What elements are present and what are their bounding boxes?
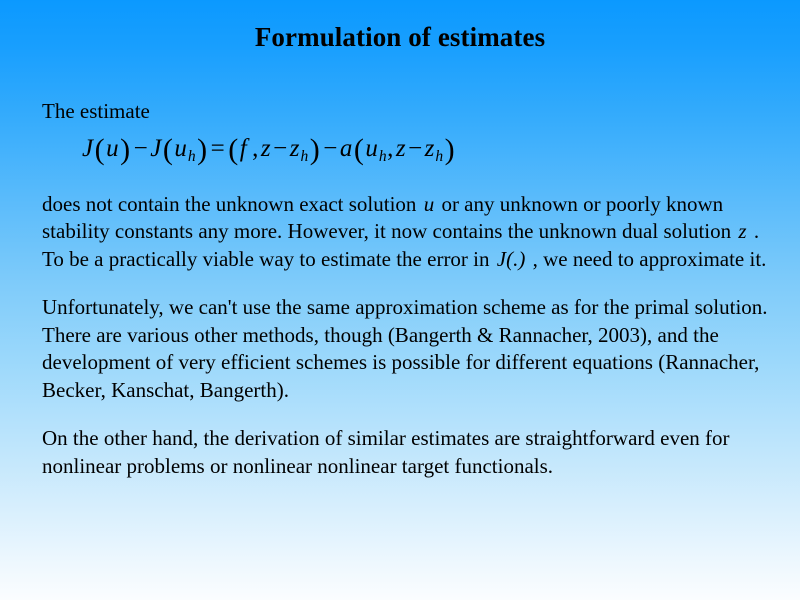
formula-sub-h-1: h [187,148,196,165]
formula-rparen-2: ) [196,133,209,166]
formula-minus-2: − [271,135,290,162]
lead-text: The estimate [42,98,774,125]
formula-minus-3: − [321,135,340,162]
formula-sub-h-4: h [435,148,444,165]
formula-sub-h-2: h [300,148,309,165]
formula-comma-2: , [387,135,396,162]
math-symbol: J(.) [495,247,528,271]
math-symbol: u [422,192,437,216]
formula-minus-4: − [406,135,425,162]
formula-u: u [106,135,119,162]
formula-lparen-3: ( [227,133,240,166]
presentation-slide: Formulation of estimates The estimate J(… [0,0,800,600]
formula-z-1: z [261,135,271,162]
formula-rparen-4: ) [444,133,457,166]
slide-body: The estimate J(u)−J(uh)=(f,z−zh)−a(uh,z−… [42,98,774,480]
formula-minus-1: − [132,135,151,162]
formula-uh-1: u [174,135,187,162]
math-symbol: z [736,219,748,243]
formula-J2: J [150,135,162,162]
formula-zh-2: z [425,135,435,162]
formula-z-2: z [396,135,406,162]
formula-lparen-1: ( [94,133,107,166]
formula-lparen-2: ( [162,133,175,166]
paragraph-2: Unfortunately, we can't use the same app… [42,294,774,404]
formula-J1: J [82,135,94,162]
formula-sub-h-3: h [378,148,387,165]
page-title: Formulation of estimates [0,22,800,52]
formula-comma-1: , [252,135,261,162]
formula-rparen-3: ) [309,133,322,166]
formula-uh-2: u [365,135,378,162]
formula-a: a [340,135,353,162]
estimate-formula: J(u)−J(uh)=(f,z−zh)−a(uh,z−zh) [82,129,774,177]
formula-lparen-4: ( [353,133,366,166]
formula-rparen-1: ) [119,133,132,166]
paragraph-1: does not contain the unknown exact solut… [42,191,774,274]
paragraph-3: On the other hand, the derivation of sim… [42,425,774,480]
formula-equals: = [209,135,228,162]
formula-f: f [240,135,247,162]
formula-zh-1: z [290,135,300,162]
